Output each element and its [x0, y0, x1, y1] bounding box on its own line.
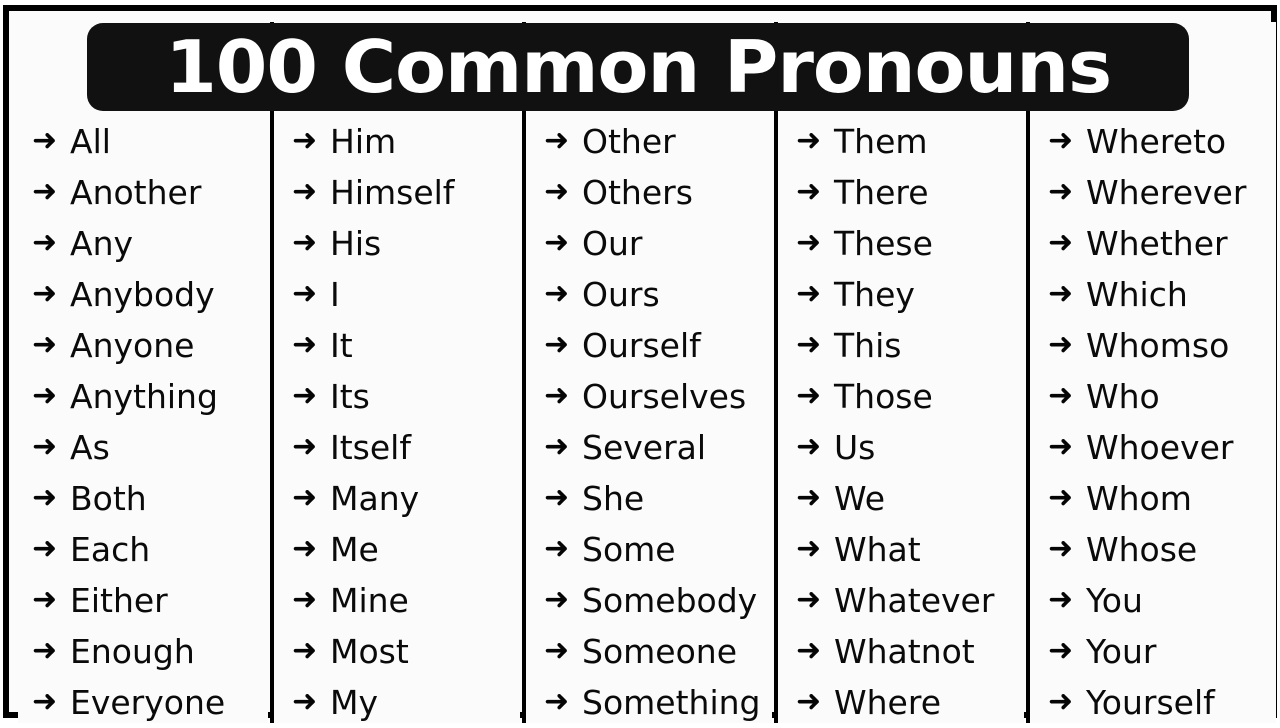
pronoun-word: Whereto: [1086, 125, 1226, 158]
pronoun-column-5: ➜Whereto ➜Wherever ➜Whether ➜Which ➜Whom…: [1026, 22, 1276, 723]
pronoun-word: Anybody: [70, 278, 215, 311]
list-item: ➜Itself: [274, 422, 520, 473]
arrow-right-icon: ➜: [1048, 279, 1086, 309]
pronoun-word: Another: [70, 176, 201, 209]
pronoun-word: His: [330, 227, 381, 260]
pronoun-word: Who: [1086, 380, 1160, 413]
arrow-right-icon: ➜: [796, 636, 834, 666]
arrow-right-icon: ➜: [796, 330, 834, 360]
arrow-right-icon: ➜: [544, 279, 582, 309]
pronoun-word: Whatnot: [834, 635, 975, 668]
arrow-right-icon: ➜: [292, 126, 330, 156]
list-item: ➜Anything: [18, 371, 268, 422]
arrow-right-icon: ➜: [796, 381, 834, 411]
pronoun-word: These: [834, 227, 933, 260]
list-item: ➜Where: [778, 677, 1024, 728]
arrow-right-icon: ➜: [32, 177, 70, 207]
list-item: ➜As: [18, 422, 268, 473]
pronoun-word: Your: [1086, 635, 1156, 668]
pronoun-word: I: [330, 278, 340, 311]
pronoun-word: She: [582, 482, 644, 515]
pronoun-word: Somebody: [582, 584, 757, 617]
arrow-right-icon: ➜: [1048, 177, 1086, 207]
pronoun-word: All: [70, 125, 111, 158]
arrow-right-icon: ➜: [796, 432, 834, 462]
arrow-right-icon: ➜: [544, 432, 582, 462]
pronoun-column-4: ➜Them ➜There ➜These ➜They ➜This ➜Those ➜…: [774, 22, 1024, 723]
pronoun-word: Others: [582, 176, 693, 209]
pronoun-word: There: [834, 176, 929, 209]
list-item: ➜Me: [274, 524, 520, 575]
pronoun-word: Mine: [330, 584, 409, 617]
list-item: ➜Its: [274, 371, 520, 422]
arrow-right-icon: ➜: [544, 381, 582, 411]
list-item: ➜You: [1030, 575, 1276, 626]
pronoun-word: Any: [70, 227, 133, 260]
arrow-right-icon: ➜: [1048, 330, 1086, 360]
pronoun-word: Both: [70, 482, 147, 515]
pronoun-word: They: [834, 278, 915, 311]
pronoun-word: You: [1086, 584, 1143, 617]
list-item: ➜Them: [778, 116, 1024, 167]
pronoun-word: Whether: [1086, 227, 1228, 260]
list-item: ➜Which: [1030, 269, 1276, 320]
arrow-right-icon: ➜: [1048, 126, 1086, 156]
pronoun-word: Those: [834, 380, 933, 413]
list-item: ➜Others: [526, 167, 772, 218]
pronoun-word: Whomso: [1086, 329, 1229, 362]
list-item: ➜Whatnot: [778, 626, 1024, 677]
pronoun-word: Either: [70, 584, 168, 617]
arrow-right-icon: ➜: [292, 534, 330, 564]
list-item: ➜It: [274, 320, 520, 371]
list-item: ➜Most: [274, 626, 520, 677]
arrow-right-icon: ➜: [292, 177, 330, 207]
list-item: ➜Whatever: [778, 575, 1024, 626]
pronoun-word: Itself: [330, 431, 411, 464]
pronoun-column-2: ➜Him ➜Himself ➜His ➜I ➜It ➜Its ➜Itself ➜…: [270, 22, 520, 723]
pronoun-word: Whom: [1086, 482, 1192, 515]
pronoun-word: What: [834, 533, 921, 566]
list-item: ➜I: [274, 269, 520, 320]
list-item: ➜Some: [526, 524, 772, 575]
arrow-right-icon: ➜: [292, 228, 330, 258]
arrow-right-icon: ➜: [796, 687, 834, 717]
arrow-right-icon: ➜: [1048, 381, 1086, 411]
list-item: ➜Another: [18, 167, 268, 218]
pronoun-word: Enough: [70, 635, 195, 668]
pronoun-word: We: [834, 482, 885, 515]
pronoun-word: Someone: [582, 635, 737, 668]
arrow-right-icon: ➜: [292, 432, 330, 462]
arrow-right-icon: ➜: [796, 126, 834, 156]
list-item: ➜Enough: [18, 626, 268, 677]
pronoun-word: Where: [834, 686, 941, 719]
arrow-right-icon: ➜: [544, 330, 582, 360]
pronoun-word: My: [330, 686, 378, 719]
list-item: ➜Ourself: [526, 320, 772, 371]
arrow-right-icon: ➜: [292, 636, 330, 666]
pronoun-word: Its: [330, 380, 370, 413]
list-item: ➜Whom: [1030, 473, 1276, 524]
list-item: ➜Who: [1030, 371, 1276, 422]
arrow-right-icon: ➜: [32, 687, 70, 717]
arrow-right-icon: ➜: [544, 228, 582, 258]
list-item: ➜His: [274, 218, 520, 269]
list-item: ➜Any: [18, 218, 268, 269]
list-item: ➜This: [778, 320, 1024, 371]
pronoun-word: Ourselves: [582, 380, 746, 413]
pronoun-column-3: ➜Other ➜Others ➜Our ➜Ours ➜Ourself ➜Ours…: [522, 22, 772, 723]
pronoun-word: Yourself: [1086, 686, 1215, 719]
pronoun-word: Some: [582, 533, 676, 566]
list-item: ➜We: [778, 473, 1024, 524]
pronoun-word: As: [70, 431, 110, 464]
list-item: ➜Whereto: [1030, 116, 1276, 167]
list-item: ➜Other: [526, 116, 772, 167]
list-item: ➜They: [778, 269, 1024, 320]
arrow-right-icon: ➜: [32, 483, 70, 513]
arrow-right-icon: ➜: [292, 585, 330, 615]
arrow-right-icon: ➜: [796, 483, 834, 513]
arrow-right-icon: ➜: [796, 279, 834, 309]
list-item: ➜My: [274, 677, 520, 728]
arrow-right-icon: ➜: [292, 330, 330, 360]
list-item: ➜Ourselves: [526, 371, 772, 422]
arrow-right-icon: ➜: [796, 534, 834, 564]
pronoun-word: Ourself: [582, 329, 701, 362]
pronoun-word: Whoever: [1086, 431, 1233, 464]
list-item: ➜Something: [526, 677, 772, 728]
arrow-right-icon: ➜: [32, 330, 70, 360]
pronoun-word: Whatever: [834, 584, 994, 617]
list-item: ➜Yourself: [1030, 677, 1276, 728]
list-item: ➜Ours: [526, 269, 772, 320]
arrow-right-icon: ➜: [32, 381, 70, 411]
list-item: ➜She: [526, 473, 772, 524]
arrow-right-icon: ➜: [1048, 228, 1086, 258]
list-item: ➜Anyone: [18, 320, 268, 371]
arrow-right-icon: ➜: [292, 279, 330, 309]
arrow-right-icon: ➜: [32, 585, 70, 615]
list-item: ➜Wherever: [1030, 167, 1276, 218]
pronoun-word: Whose: [1086, 533, 1197, 566]
pronoun-word: Him: [330, 125, 396, 158]
pronoun-columns: ➜All ➜Another ➜Any ➜Anybody ➜Anyone ➜Any…: [18, 22, 1280, 723]
pronoun-word: Anything: [70, 380, 218, 413]
pronoun-word: Most: [330, 635, 409, 668]
pronoun-poster: ➜All ➜Another ➜Any ➜Anybody ➜Anyone ➜Any…: [0, 0, 1280, 720]
arrow-right-icon: ➜: [1048, 585, 1086, 615]
pronoun-word: Several: [582, 431, 706, 464]
list-item: ➜These: [778, 218, 1024, 269]
arrow-right-icon: ➜: [544, 585, 582, 615]
page-title: 100 Common Pronouns: [165, 31, 1111, 103]
list-item: ➜Everyone: [18, 677, 268, 728]
pronoun-word: Me: [330, 533, 379, 566]
list-item: ➜What: [778, 524, 1024, 575]
arrow-right-icon: ➜: [32, 279, 70, 309]
pronoun-word: Anyone: [70, 329, 194, 362]
list-item: ➜Mine: [274, 575, 520, 626]
arrow-right-icon: ➜: [1048, 432, 1086, 462]
pronoun-word: Each: [70, 533, 150, 566]
pronoun-word: Our: [582, 227, 642, 260]
list-item: ➜Us: [778, 422, 1024, 473]
list-item: ➜Whose: [1030, 524, 1276, 575]
pronoun-word: Everyone: [70, 686, 225, 719]
pronoun-word: It: [330, 329, 353, 362]
pronoun-word: Other: [582, 125, 676, 158]
pronoun-word: Many: [330, 482, 419, 515]
pronoun-word: Ours: [582, 278, 660, 311]
arrow-right-icon: ➜: [796, 228, 834, 258]
arrow-right-icon: ➜: [32, 432, 70, 462]
pronoun-word: Himself: [330, 176, 454, 209]
arrow-right-icon: ➜: [796, 585, 834, 615]
arrow-right-icon: ➜: [796, 177, 834, 207]
list-item: ➜Those: [778, 371, 1024, 422]
arrow-right-icon: ➜: [32, 228, 70, 258]
arrow-right-icon: ➜: [1048, 687, 1086, 717]
pronoun-word: Wherever: [1086, 176, 1246, 209]
list-item: ➜Both: [18, 473, 268, 524]
list-item: ➜Our: [526, 218, 772, 269]
pronoun-word: Them: [834, 125, 928, 158]
list-item: ➜Whoever: [1030, 422, 1276, 473]
arrow-right-icon: ➜: [544, 483, 582, 513]
list-item: ➜Several: [526, 422, 772, 473]
arrow-right-icon: ➜: [544, 126, 582, 156]
arrow-right-icon: ➜: [544, 636, 582, 666]
arrow-right-icon: ➜: [292, 687, 330, 717]
arrow-right-icon: ➜: [544, 177, 582, 207]
arrow-right-icon: ➜: [32, 126, 70, 156]
pronoun-word: This: [834, 329, 901, 362]
pronoun-column-1: ➜All ➜Another ➜Any ➜Anybody ➜Anyone ➜Any…: [18, 22, 268, 723]
arrow-right-icon: ➜: [544, 534, 582, 564]
list-item: ➜Somebody: [526, 575, 772, 626]
arrow-right-icon: ➜: [1048, 534, 1086, 564]
arrow-right-icon: ➜: [544, 687, 582, 717]
pronoun-word: Something: [582, 686, 760, 719]
pronoun-word: Which: [1086, 278, 1188, 311]
list-item: ➜All: [18, 116, 268, 167]
list-item: ➜Someone: [526, 626, 772, 677]
list-item: ➜Your: [1030, 626, 1276, 677]
arrow-right-icon: ➜: [32, 636, 70, 666]
poster-frame: ➜All ➜Another ➜Any ➜Anybody ➜Anyone ➜Any…: [3, 5, 1277, 718]
list-item: ➜Either: [18, 575, 268, 626]
arrow-right-icon: ➜: [1048, 483, 1086, 513]
arrow-right-icon: ➜: [32, 534, 70, 564]
pronoun-word: Us: [834, 431, 875, 464]
list-item: ➜Many: [274, 473, 520, 524]
list-item: ➜Each: [18, 524, 268, 575]
list-item: ➜Whomso: [1030, 320, 1276, 371]
arrow-right-icon: ➜: [1048, 636, 1086, 666]
list-item: ➜Him: [274, 116, 520, 167]
title-banner: 100 Common Pronouns: [87, 23, 1189, 111]
list-item: ➜There: [778, 167, 1024, 218]
arrow-right-icon: ➜: [292, 381, 330, 411]
list-item: ➜Whether: [1030, 218, 1276, 269]
list-item: ➜Himself: [274, 167, 520, 218]
arrow-right-icon: ➜: [292, 483, 330, 513]
list-item: ➜Anybody: [18, 269, 268, 320]
